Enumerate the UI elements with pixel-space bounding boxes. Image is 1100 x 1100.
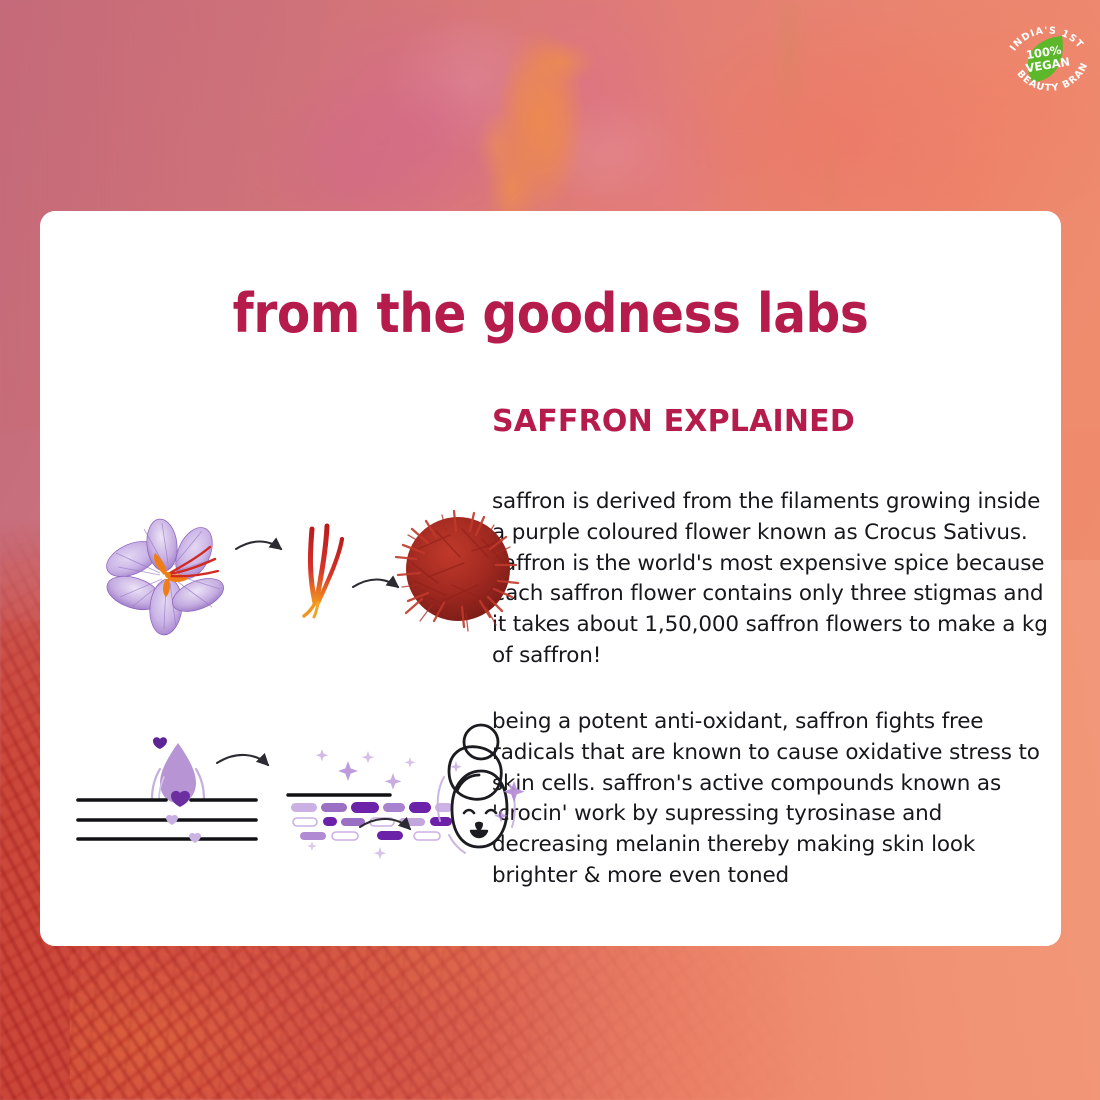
arrow-right-icon [353,580,398,588]
arrow-right-icon [217,755,268,765]
paragraph-saffron-benefits: being a potent anti-oxidant, saffron fig… [492,707,1052,892]
serum-droplet-skin-layers-icon [78,737,256,843]
content-card: from the goodness labs SAFFRON EXPLAINED… [40,211,1061,946]
page-title: from the goodness labs [91,287,1010,341]
saffron-stigma-threads-icon [304,526,342,617]
vegan-badge: 100% VEGAN INDIA'S 1ST BEAUTY BRAND [996,12,1096,112]
section-subtitle: SAFFRON EXPLAINED [492,407,855,437]
crocus-flower-icon [101,518,228,637]
svg-text:100% VEGAN: 100% VEGAN [1023,42,1071,76]
illustration-row-skin-action [60,721,500,871]
saffron-thread-pile-icon [396,511,518,631]
poster-canvas: 100% VEGAN INDIA'S 1ST BEAUTY BRAND from… [0,0,1100,1100]
melanin-cells-icon [288,749,453,859]
illustration-row-sourcing [60,491,500,661]
paragraph-saffron-origin: saffron is derived from the filaments gr… [492,487,1052,672]
arrow-right-icon [236,542,281,550]
